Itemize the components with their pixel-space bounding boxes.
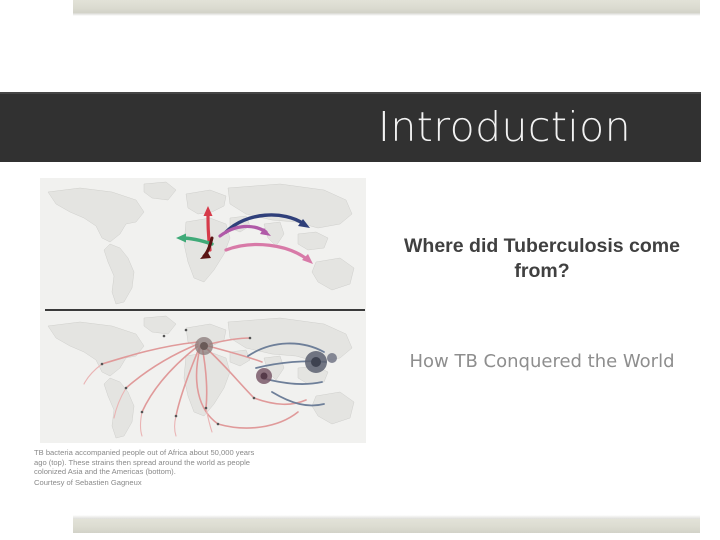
figure-credit: Courtesy of Sebastien Gagneux — [34, 478, 370, 488]
map-stack — [40, 178, 366, 443]
title-bar-highlight — [0, 92, 701, 94]
subheadline: How TB Conquered the World — [392, 350, 692, 374]
decorative-bottom-band — [73, 519, 700, 533]
presentation-slide: Introduction — [0, 0, 720, 540]
migration-figure: TB bacteria accompanied people out of Af… — [33, 178, 373, 498]
slide-title: Introduction — [378, 107, 631, 148]
map-panel-divider — [45, 309, 365, 311]
map-panel-global-spread — [40, 312, 366, 443]
decorative-top-band — [73, 0, 700, 13]
caption-line-2: ago (top). These strains then spread aro… — [34, 458, 370, 468]
slide-title-bar: Introduction — [0, 92, 701, 162]
caption-line-3: colonized Asia and the Americas (bottom)… — [34, 467, 370, 477]
top-band-shadow — [73, 13, 700, 16]
caption-line-1: TB bacteria accompanied people out of Af… — [34, 448, 370, 458]
headline-question: Where did Tuberculosis come from? — [392, 234, 692, 284]
figure-caption: TB bacteria accompanied people out of Af… — [34, 448, 370, 487]
slide-text-column: Where did Tuberculosis come from? How TB… — [392, 178, 692, 374]
map-panel-out-of-africa — [40, 178, 366, 309]
